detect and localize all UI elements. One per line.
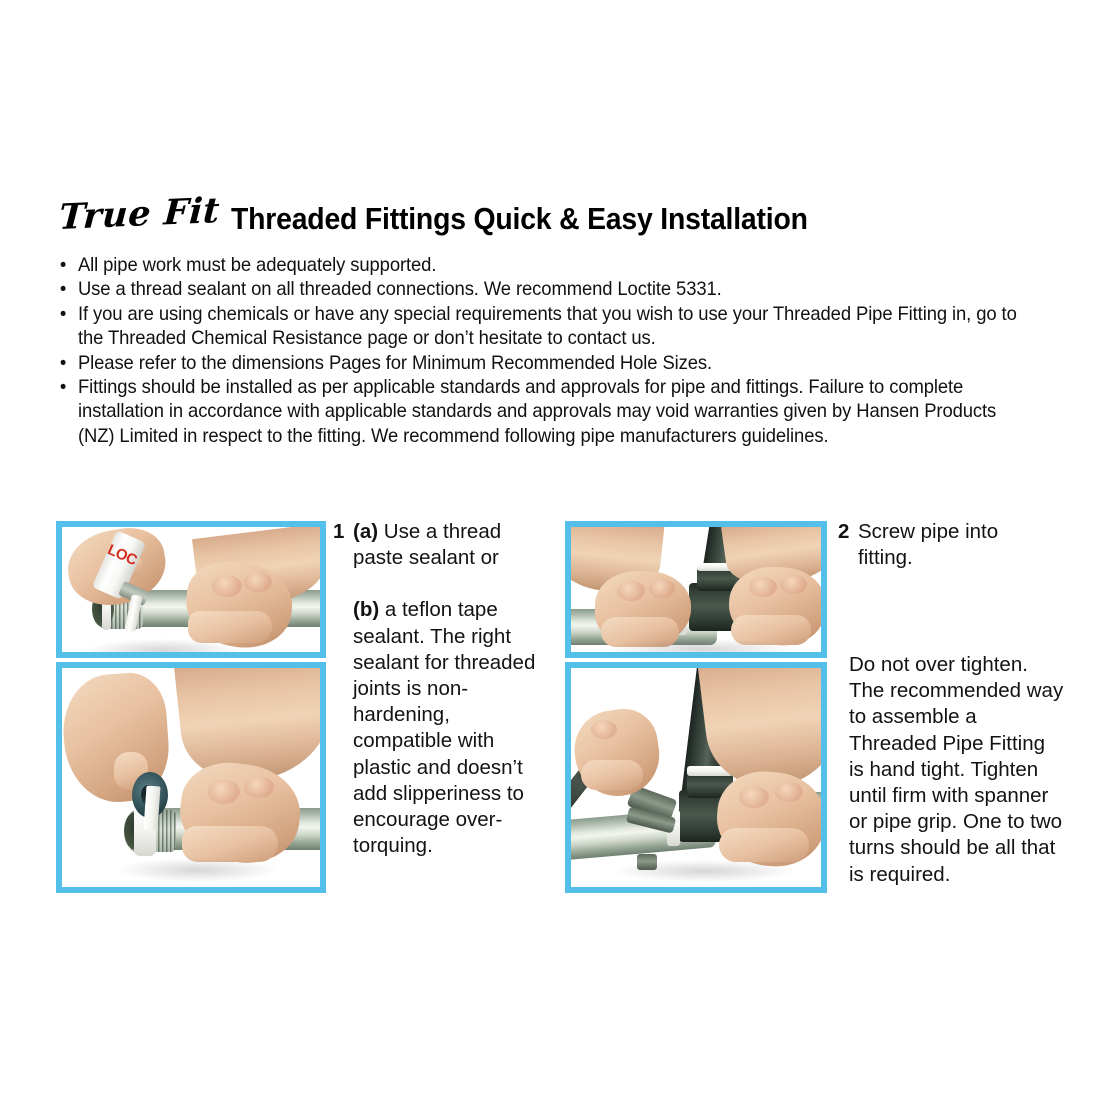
- photo-screw-pipe-into-fitting: [571, 527, 821, 652]
- list-item: • Fittings should be installed as per ap…: [58, 375, 1019, 448]
- photo-tighten-with-pipe-grip: [571, 668, 821, 887]
- bullet-dot-icon: •: [60, 351, 66, 375]
- knuckle: [591, 720, 617, 739]
- knuckle: [244, 572, 272, 592]
- list-item-text: All pipe work must be adequately support…: [78, 254, 436, 276]
- list-item: • Please refer to the dimensions Pages f…: [58, 351, 1019, 375]
- list-item-text: Fittings should be installed as per appl…: [78, 376, 996, 447]
- list-item-text: Please refer to the dimensions Pages for…: [78, 352, 712, 374]
- step-1-photo-a-frame: LOCTITE: [56, 521, 326, 658]
- bullet-dot-icon: •: [60, 253, 66, 277]
- knuckle: [617, 581, 645, 601]
- caption-spacer: [333, 571, 545, 597]
- knuckle: [208, 780, 240, 804]
- intro-bullet-list: • All pipe work must be adequately suppo…: [58, 253, 1070, 448]
- bullet-dot-icon: •: [60, 375, 66, 399]
- photo-apply-thread-paste: LOCTITE: [62, 527, 320, 652]
- step-2-photo-a-frame: [565, 521, 827, 658]
- step-1-caption: 1 (a) Use a thread paste sealant or (b) …: [333, 519, 545, 859]
- step-1-photo-b-frame: [56, 662, 326, 893]
- finger: [719, 828, 809, 862]
- knuckle: [212, 575, 242, 597]
- step-1-caption-a: (a) Use a thread paste sealant or: [333, 519, 545, 571]
- step-1-caption-b: (b) a teflon tape sealant. The right sea…: [333, 597, 545, 859]
- knuckle: [649, 579, 675, 598]
- step-1-text-b: a teflon tape sealant. The right sealant…: [353, 598, 535, 857]
- list-item-text: Use a thread sealant on all threaded con…: [78, 278, 722, 300]
- page-title: True Fit Threaded Fittings Quick & Easy …: [58, 200, 851, 236]
- list-item-text: If you are using chemicals or have any s…: [78, 303, 1017, 349]
- page-title-text: Threaded Fittings Quick & Easy Installat…: [231, 204, 808, 235]
- finger: [188, 611, 272, 643]
- list-item: • If you are using chemicals or have any…: [58, 302, 1019, 351]
- step-2-caption-bottom: Do not over tighten. The recommended way…: [849, 652, 1065, 888]
- drop-shadow: [118, 858, 278, 882]
- step-1-label-b: (b): [353, 598, 379, 621]
- step-1-number: 1: [333, 519, 344, 545]
- list-item: • Use a thread sealant on all threaded c…: [58, 277, 1019, 301]
- step-2-photo-b-frame: [565, 662, 827, 893]
- bullet-dot-icon: •: [60, 277, 66, 301]
- step-1-label-a: (a): [353, 520, 378, 543]
- step-2-text-a: Screw pipe into fitting.: [838, 519, 1048, 571]
- drop-shadow: [611, 639, 791, 652]
- drop-shadow: [615, 860, 795, 882]
- knuckle: [244, 776, 274, 798]
- list-item: • All pipe work must be adequately suppo…: [58, 253, 1019, 277]
- installation-instruction-sheet: True Fit Threaded Fittings Quick & Easy …: [0, 0, 1119, 1119]
- knuckle: [775, 782, 803, 802]
- step-2-text-b: Do not over tighten. The recommended way…: [849, 652, 1065, 888]
- step-2-number: 2: [838, 519, 849, 545]
- step-2-caption-top: 2 Screw pipe into fitting.: [838, 519, 1048, 571]
- knuckle: [749, 577, 777, 597]
- knuckle: [781, 575, 807, 594]
- knuckle: [739, 786, 769, 808]
- bullet-dot-icon: •: [60, 302, 66, 326]
- finger: [182, 826, 278, 862]
- brand-logotype-true-fit: True Fit: [58, 193, 221, 236]
- finger: [581, 760, 643, 790]
- photo-wrap-teflon-tape: [62, 668, 320, 887]
